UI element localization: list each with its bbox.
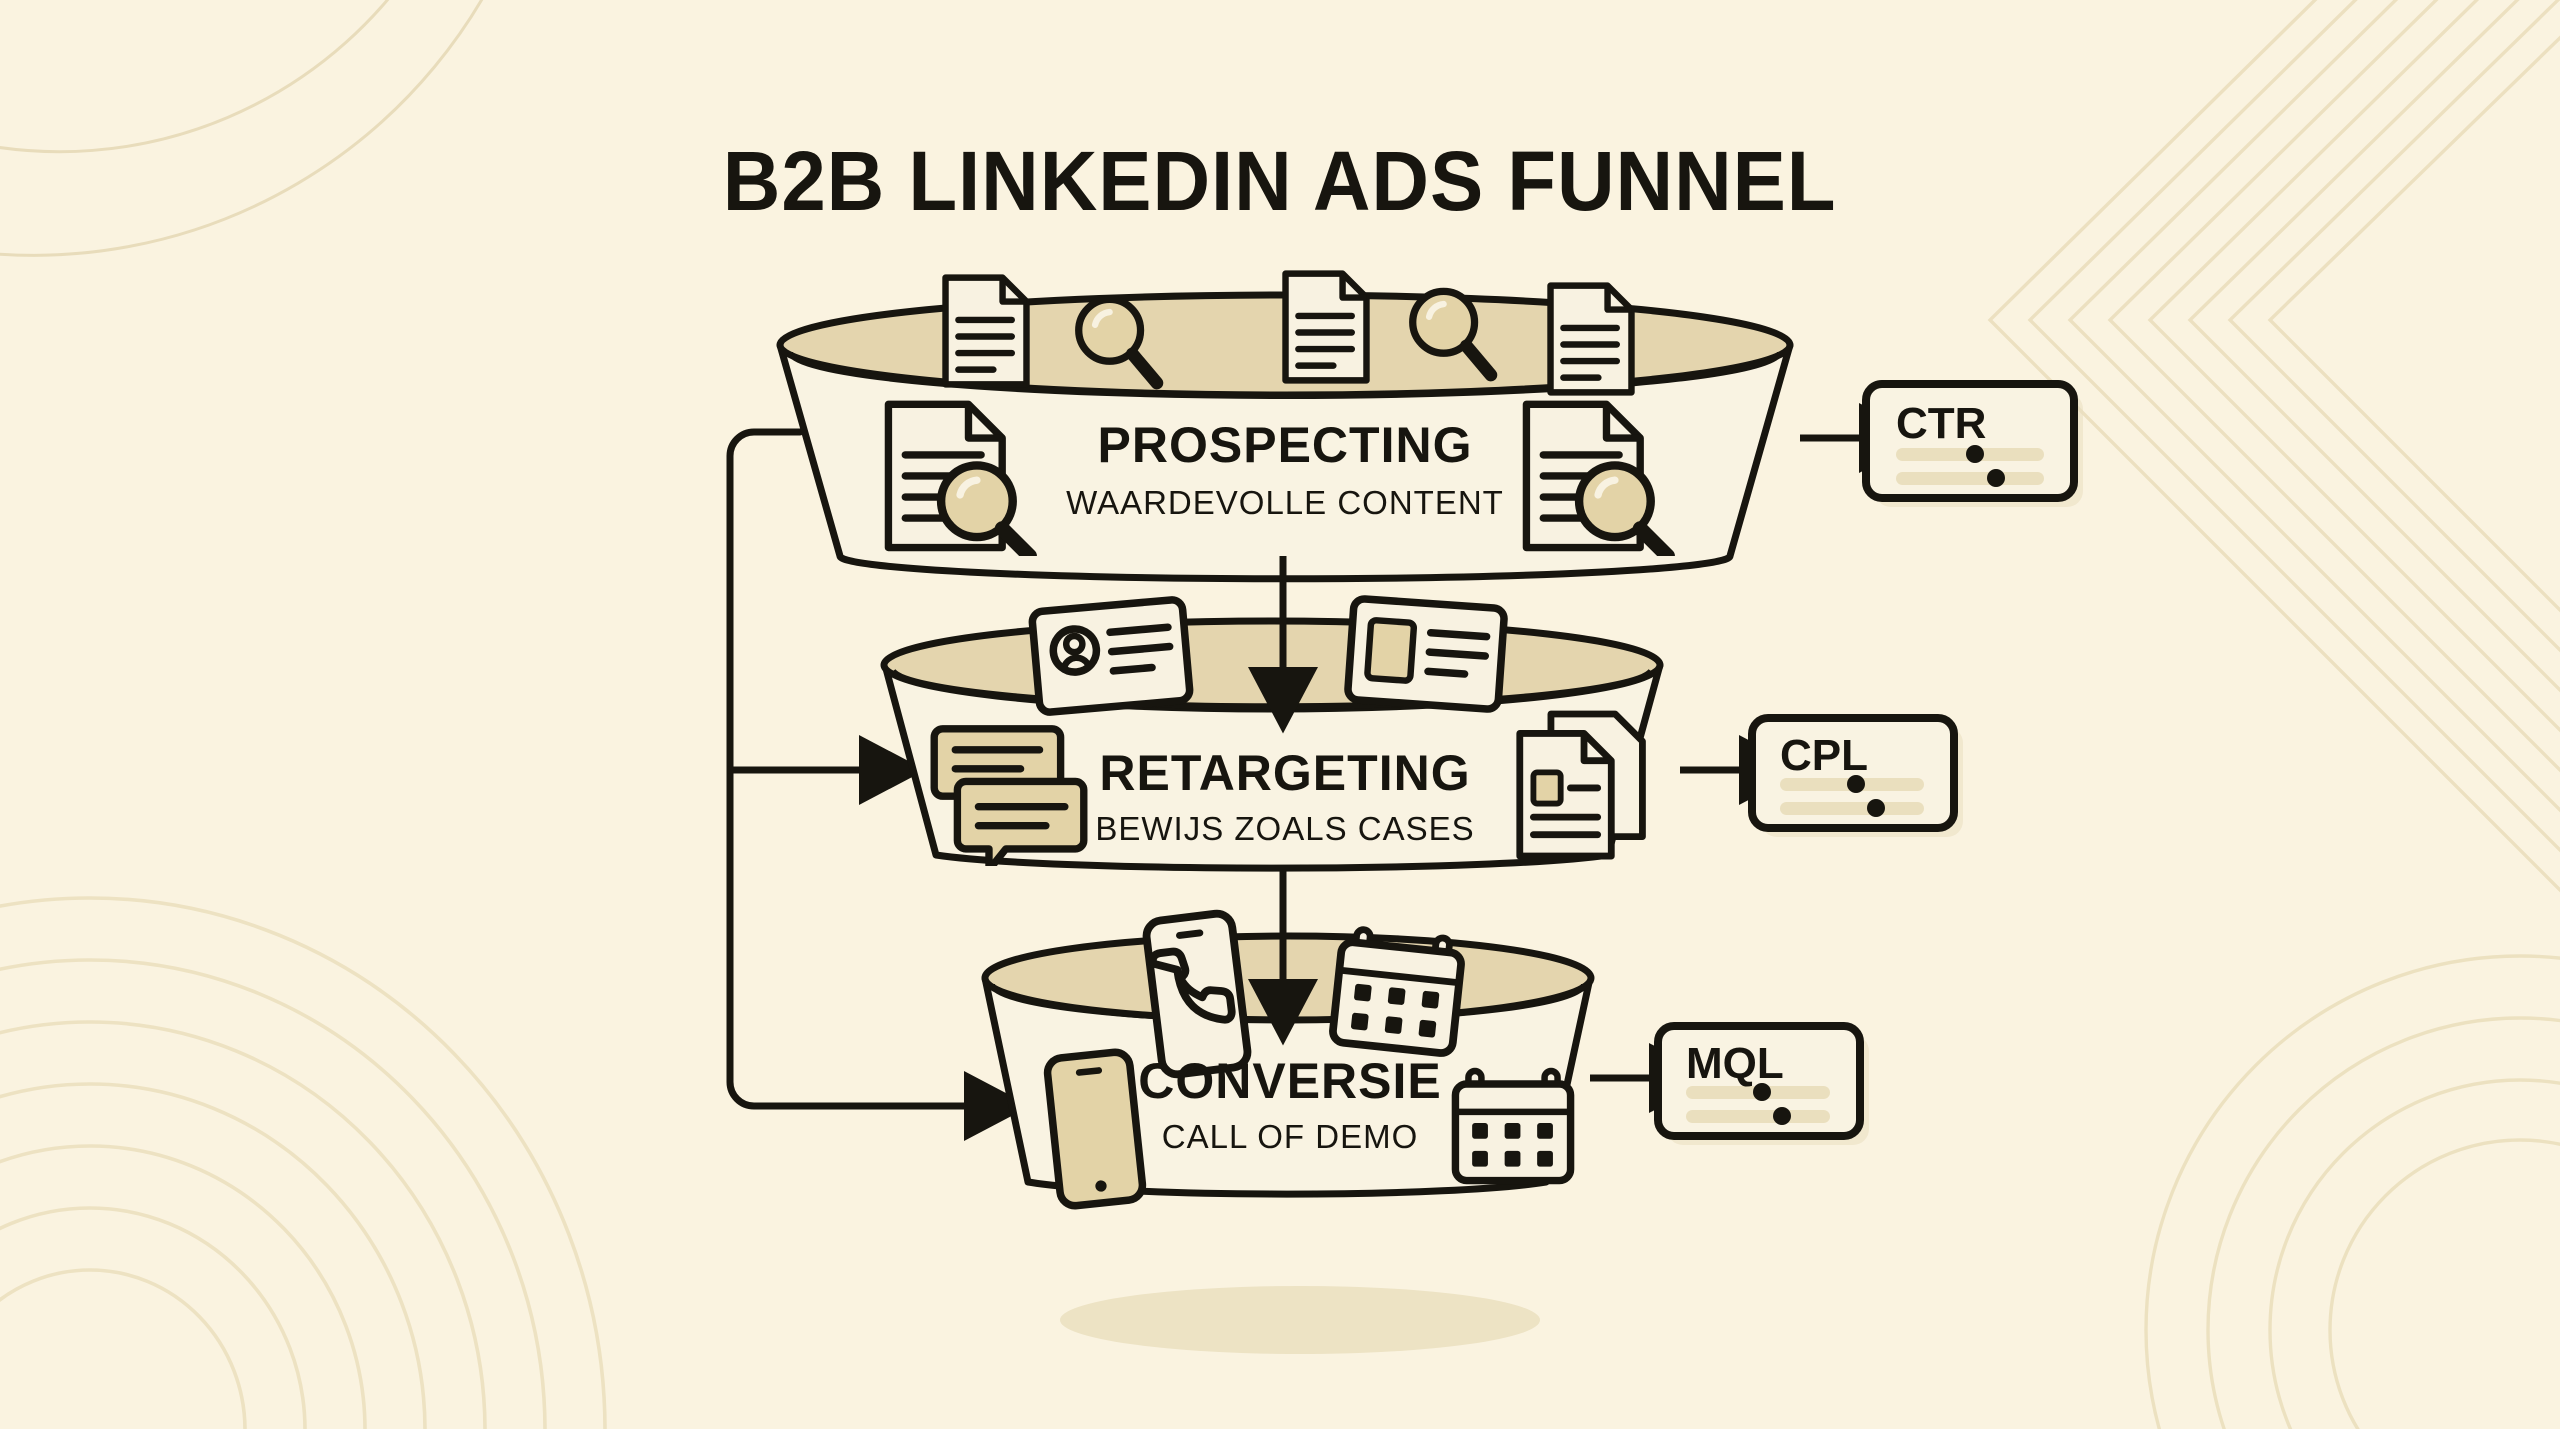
page-title: B2B LINKEDIN ADS FUNNEL xyxy=(723,135,1837,228)
kpi-dot xyxy=(1773,1107,1791,1125)
funnel-diagram: B2B LINKEDIN ADS FUNNEL PROSPECTING WAAR… xyxy=(0,0,2560,1429)
kpi-label-cpl: CPL xyxy=(1780,731,1868,780)
document-icon xyxy=(1286,274,1367,381)
kpi-bar-row xyxy=(1686,1110,1830,1123)
kpi-bar-row xyxy=(1780,802,1924,815)
kpi-label-ctr: CTR xyxy=(1896,399,1986,448)
stage-label-prospecting: PROSPECTING xyxy=(1098,417,1473,473)
media-card-icon xyxy=(1347,598,1504,710)
calendar-icon xyxy=(1455,1071,1570,1181)
document-stack-icon xyxy=(1520,714,1643,856)
kpi-dot xyxy=(1867,799,1885,817)
stage-sublabel-retargeting: BEWIJS ZOALS CASES xyxy=(1095,810,1474,847)
profile-card-icon xyxy=(1031,599,1190,713)
ground-shadow-ellipse xyxy=(1060,1286,1540,1354)
kpi-bar-row xyxy=(1896,472,2044,485)
document-icon xyxy=(946,278,1027,385)
calendar-icon xyxy=(1332,928,1464,1055)
phone-call-icon xyxy=(1145,912,1249,1076)
kpi-label-mql: MQL xyxy=(1686,1039,1784,1088)
smartphone-icon xyxy=(1046,1051,1144,1207)
stage-sublabel-conversie: CALL OF DEMO xyxy=(1162,1118,1419,1155)
stage-sublabel-prospecting: WAARDEVOLLE CONTENT xyxy=(1066,484,1504,521)
infographic-canvas: B2B LINKEDIN ADS FUNNEL PROSPECTING WAAR… xyxy=(0,0,2560,1429)
stage-label-retargeting: RETARGETING xyxy=(1099,745,1470,801)
kpi-dot xyxy=(1987,469,2005,487)
stage-label-conversie: CONVERSIE xyxy=(1138,1053,1442,1109)
document-icon xyxy=(1551,286,1632,393)
